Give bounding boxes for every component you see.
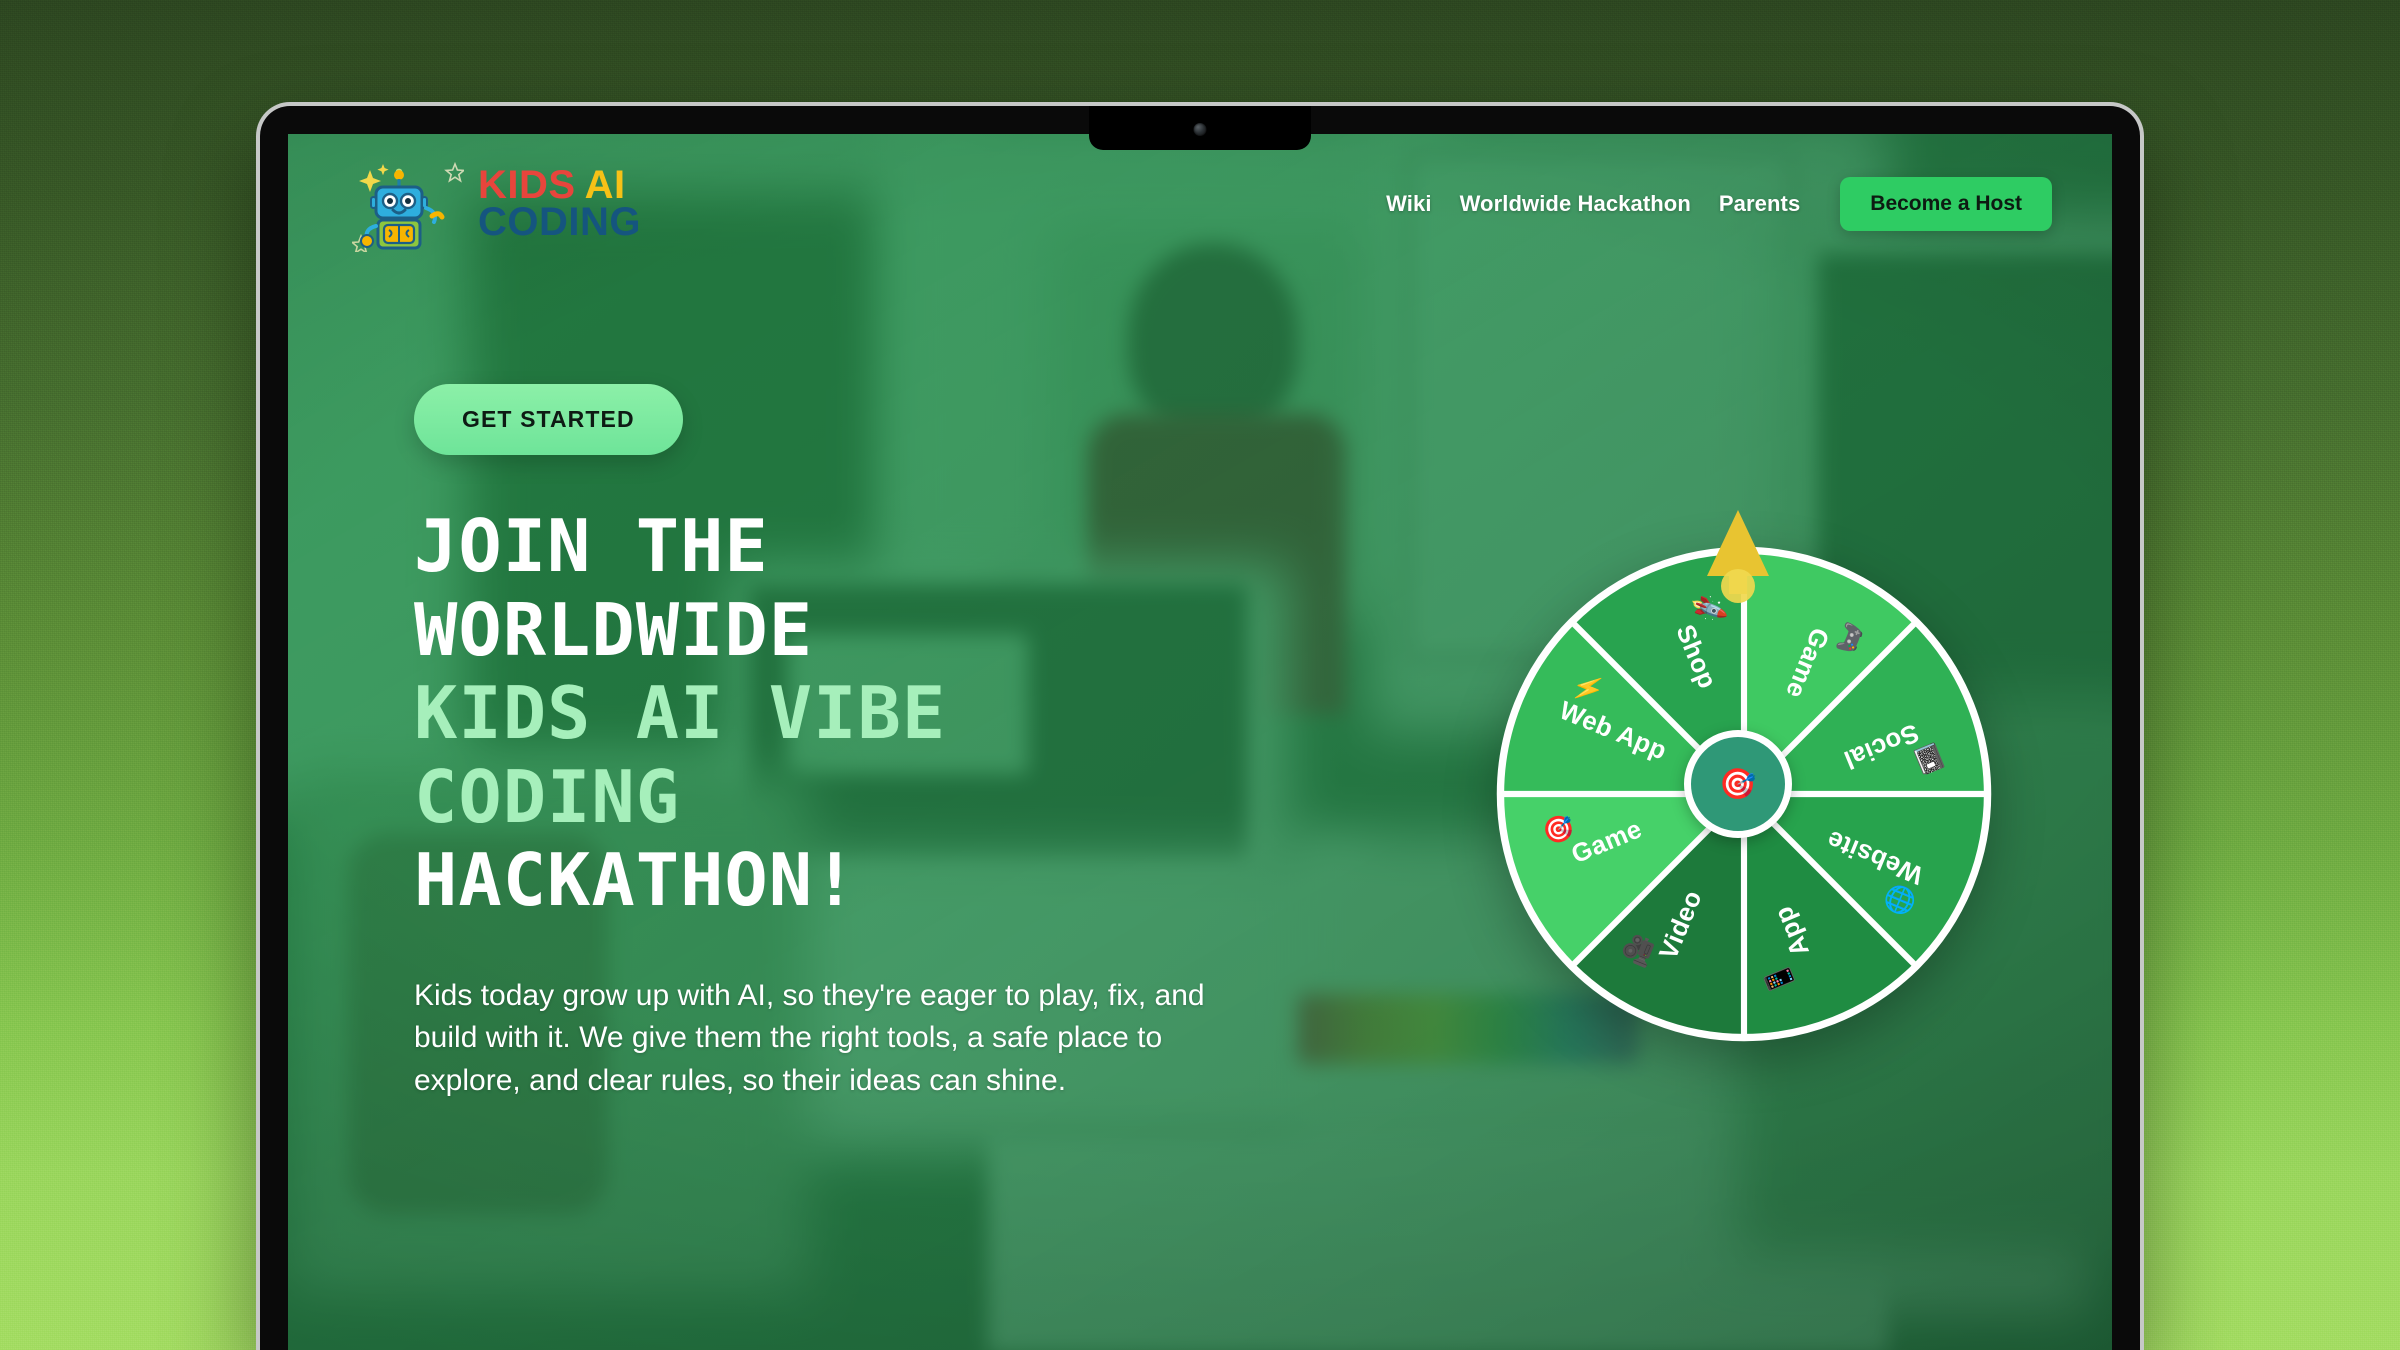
laptop-notch bbox=[1089, 106, 1311, 150]
site-header: KIDSAI CODING Wiki Worldwide Hackathon P… bbox=[288, 134, 2112, 274]
robot-mascot-icon bbox=[352, 156, 464, 252]
get-started-button[interactable]: GET STARTED bbox=[414, 384, 683, 455]
logo-wordmark: KIDSAI CODING bbox=[478, 167, 641, 241]
nav-link-wiki[interactable]: Wiki bbox=[1386, 191, 1431, 217]
target-emoji-icon: 🎯 bbox=[1719, 767, 1756, 802]
headline-line-5: HACKATHON! bbox=[414, 839, 1314, 923]
hero-headline: JOIN THE WORLDWIDE KIDS AI VIBE CODING H… bbox=[414, 505, 1314, 923]
nav-link-parents[interactable]: Parents bbox=[1719, 191, 1800, 217]
become-a-host-button[interactable]: Become a Host bbox=[1840, 177, 2052, 231]
hero-section: GET STARTED JOIN THE WORLDWIDE KIDS AI V… bbox=[414, 384, 1314, 1132]
hero-paragraph: Kids today grow up with AI, so they're e… bbox=[414, 975, 1214, 1103]
nav-link-worldwide-hackathon[interactable]: Worldwide Hackathon bbox=[1460, 191, 1691, 217]
headline-line-4: CODING bbox=[414, 756, 1314, 840]
spin-wheel-hub[interactable]: 🎯 bbox=[1684, 730, 1792, 838]
headline-line-1: JOIN THE bbox=[414, 505, 1314, 589]
laptop-bezel: KIDSAI CODING Wiki Worldwide Hackathon P… bbox=[260, 106, 2140, 1350]
headline-line-3: KIDS AI VIBE bbox=[414, 672, 1314, 756]
site-logo[interactable]: KIDSAI CODING bbox=[352, 156, 641, 252]
spin-wheel-pointer-icon bbox=[1699, 504, 1777, 608]
headline-line-2: WORLDWIDE bbox=[414, 589, 1314, 673]
browser-viewport: KIDSAI CODING Wiki Worldwide Hackathon P… bbox=[288, 134, 2112, 1350]
laptop-device-mockup: KIDSAI CODING Wiki Worldwide Hackathon P… bbox=[256, 102, 2144, 1350]
primary-navigation: Wiki Worldwide Hackathon Parents Become … bbox=[1386, 177, 2052, 231]
logo-coding-text: CODING bbox=[478, 204, 641, 241]
spin-wheel-widget[interactable]: Game🎮Social📓Website🌐App📱Video🎥Game🎯Web A… bbox=[1478, 504, 1998, 1064]
webcam-icon bbox=[1194, 123, 1207, 136]
